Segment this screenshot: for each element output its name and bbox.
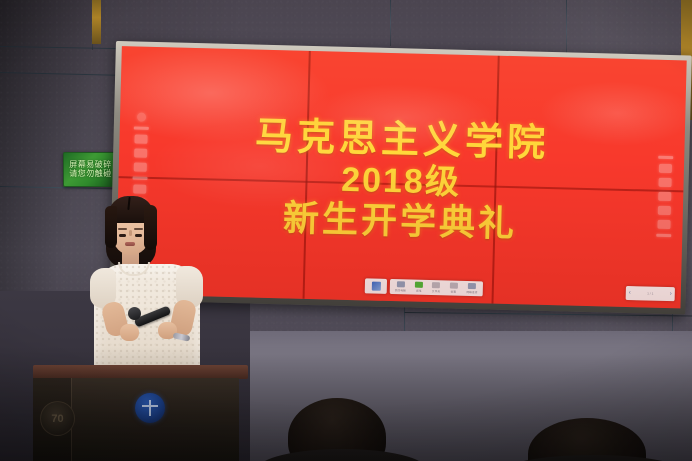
photo-scene: 屏幕易破碎 请您勿触碰 马克思主义学院 2018级 新生开学典礼 (0, 0, 692, 461)
lectern: 70 (33, 365, 248, 461)
slide-pager[interactable]: ‹ 1 / 1 › (626, 286, 675, 301)
anniversary-emblem-text: 70 (41, 413, 74, 425)
screen-warning-sign: 屏幕易破碎 请您勿触碰 (63, 152, 118, 187)
taskbar-item-label: 我的电脑 (395, 288, 406, 292)
computer-icon (396, 281, 404, 287)
taskbar-items[interactable]: 我的电脑 画笔 文件夹 设置 (390, 279, 483, 296)
taskbar-item-pen[interactable]: 画笔 (415, 282, 423, 293)
record-icon[interactable] (137, 113, 146, 122)
hair-side-right (144, 205, 157, 250)
mouth (125, 242, 135, 246)
right-icon-rail[interactable] (656, 156, 673, 237)
lectern-top (33, 365, 248, 379)
brush-icon[interactable] (657, 220, 670, 229)
divider-bar-icon (133, 176, 148, 179)
taskbar-item-label: 网络连接 (466, 290, 477, 294)
warning-sign-line2: 请您勿触碰 (69, 170, 112, 179)
pen-icon[interactable] (134, 162, 147, 171)
wall-trim-strip (92, 0, 101, 44)
eyebrow-right (134, 228, 143, 230)
university-emblem (135, 393, 165, 423)
image-icon[interactable] (658, 178, 671, 187)
eye-right (135, 234, 142, 237)
eyebrow-left (118, 228, 127, 230)
home-icon[interactable] (658, 192, 671, 201)
slide-line-2: 2018级 (341, 160, 462, 201)
slide-line-1: 马克思主义学院 (255, 116, 550, 164)
taskbar-item-computer[interactable]: 我的电脑 (395, 281, 406, 292)
pen-icon (415, 282, 423, 288)
divider-bar-icon (658, 156, 673, 159)
taskbar-item-settings[interactable]: 设置 (449, 283, 457, 294)
window-icon[interactable] (134, 135, 147, 144)
window-icon[interactable] (659, 164, 672, 173)
slide-line-3: 新生开学典礼 (283, 198, 518, 244)
microphone-head (128, 307, 141, 320)
taskbar-item-label: 文件夹 (432, 289, 440, 293)
anniversary-emblem: 70 (40, 401, 75, 436)
start-menu-icon[interactable] (365, 278, 387, 294)
arrow-icon[interactable] (658, 206, 671, 215)
hand-left (120, 324, 139, 341)
prev-page-button[interactable]: ‹ (629, 290, 631, 296)
network-icon (468, 283, 476, 289)
taskbar-item-network[interactable]: 网络连接 (466, 283, 477, 294)
hair-side-left (105, 206, 117, 248)
divider-bar-icon (656, 234, 671, 237)
nose (129, 230, 132, 236)
image-icon[interactable] (134, 148, 147, 157)
page-indicator: 1 / 1 (647, 292, 653, 296)
screen-taskbar[interactable]: 我的电脑 画笔 文件夹 设置 (365, 278, 483, 296)
settings-icon (449, 283, 457, 289)
next-page-button[interactable]: › (670, 291, 672, 297)
taskbar-item-label: 设置 (450, 290, 456, 294)
wall-seam (390, 0, 391, 46)
folder-icon (432, 282, 440, 288)
taskbar-item-label: 画笔 (416, 289, 422, 293)
taskbar-item-folder[interactable]: 文件夹 (432, 282, 441, 293)
eye-left (119, 234, 126, 237)
divider-bar-icon (134, 126, 149, 129)
